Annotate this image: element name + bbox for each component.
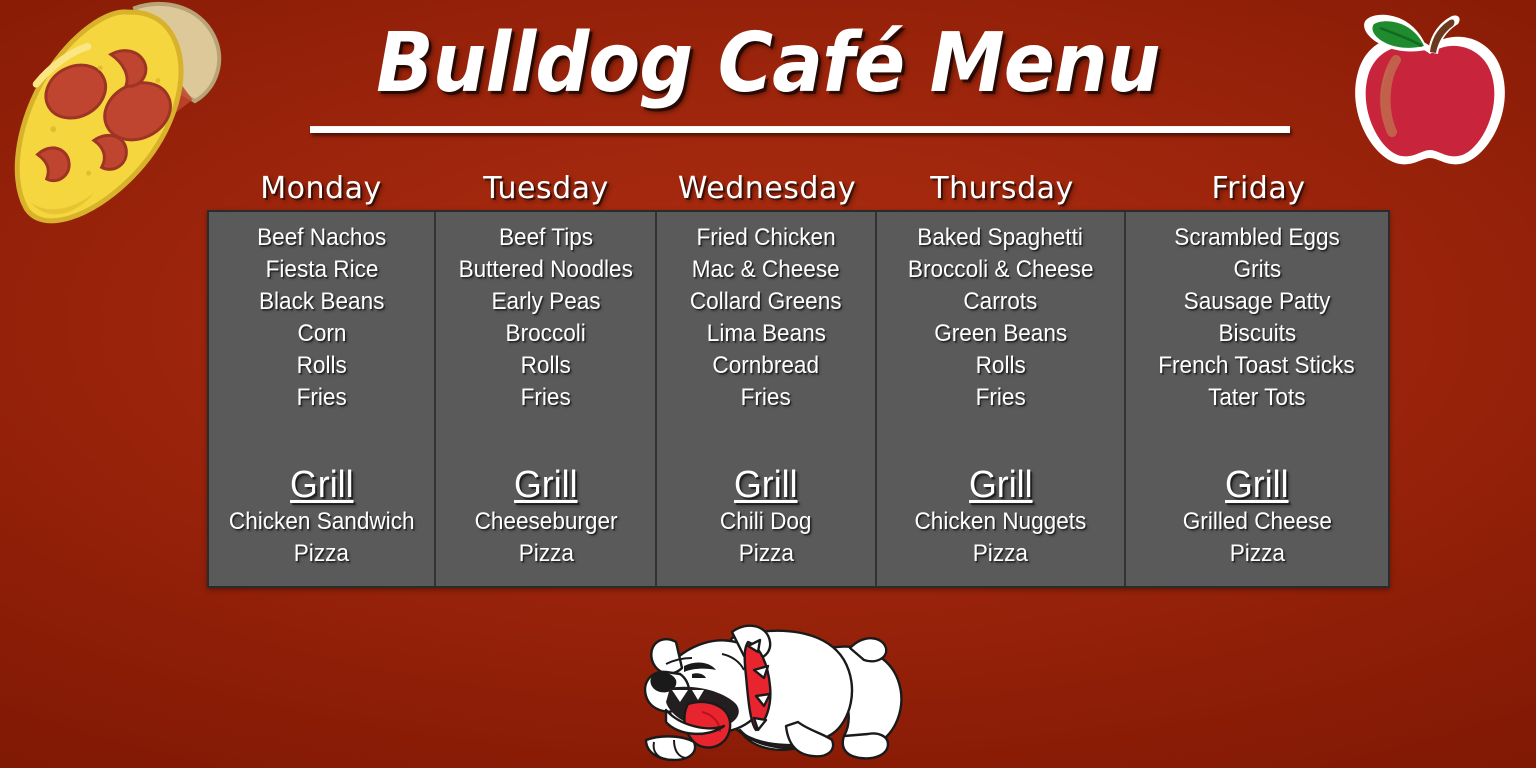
menu-item: Rolls: [521, 350, 571, 382]
grill-item: Chicken Nuggets: [914, 506, 1086, 538]
grill-item-list: Chicken Nuggets Pizza: [909, 506, 1092, 570]
day-header-tuesday: Tuesday: [435, 166, 657, 210]
grill-item-list: Grilled Cheese Pizza: [1178, 506, 1337, 570]
menu-item: Grits: [1233, 254, 1281, 286]
menu-item: Fries: [521, 382, 571, 414]
entree-list: Fried Chicken Mac & Cheese Collard Green…: [685, 222, 846, 414]
grill-item: Grilled Cheese: [1182, 506, 1331, 538]
page-title: Bulldog Café Menu: [0, 22, 1536, 106]
page-title-text: Bulldog Café Menu: [376, 22, 1160, 106]
menu-table: Beef Nachos Fiesta Rice Black Beans Corn…: [207, 210, 1390, 588]
grill-section: Grill Chili Dog Pizza: [657, 464, 874, 570]
menu-item: Fried Chicken: [697, 222, 836, 254]
menu-item: Black Beans: [259, 286, 384, 318]
menu-item: Fries: [741, 382, 791, 414]
menu-item: Buttered Noodles: [459, 254, 633, 286]
menu-item: Carrots: [963, 286, 1037, 318]
entree-list: Beef Tips Buttered Noodles Early Peas Br…: [453, 222, 638, 414]
grill-item: Chicken Sandwich: [229, 506, 415, 538]
menu-item: Baked Spaghetti: [918, 222, 1084, 254]
menu-item: Green Beans: [934, 318, 1067, 350]
grill-heading: Grill: [290, 464, 353, 506]
menu-item: Corn: [297, 318, 346, 350]
grill-section: Grill Grilled Cheese Pizza: [1126, 464, 1388, 570]
menu-item: French Toast Sticks: [1159, 350, 1355, 382]
menu-item: Broccoli & Cheese: [908, 254, 1094, 286]
menu-item: Mac & Cheese: [692, 254, 840, 286]
entree-list: Scrambled Eggs Grits Sausage Patty Biscu…: [1152, 222, 1361, 414]
grill-item: Pizza: [518, 538, 573, 570]
menu-item: Tater Tots: [1208, 382, 1305, 414]
menu-item: Biscuits: [1218, 318, 1296, 350]
menu-item: Sausage Patty: [1184, 286, 1331, 318]
bulldog-mascot-icon: [636, 612, 918, 768]
grill-item: Pizza: [1229, 538, 1284, 570]
menu-item: Beef Nachos: [257, 222, 386, 254]
grill-heading: Grill: [1225, 464, 1288, 506]
menu-item: Early Peas: [491, 286, 600, 318]
grill-section: Grill Cheeseburger Pizza: [436, 464, 655, 570]
menu-item: Rolls: [975, 350, 1025, 382]
day-header-friday: Friday: [1127, 166, 1390, 210]
grill-item: Pizza: [973, 538, 1028, 570]
day-header-monday: Monday: [207, 166, 435, 210]
menu-item: Lima Beans: [707, 318, 826, 350]
menu-item: Fiesta Rice: [265, 254, 378, 286]
menu-column-wednesday: Fried Chicken Mac & Cheese Collard Green…: [657, 212, 876, 586]
grill-section: Grill Chicken Nuggets Pizza: [877, 464, 1124, 570]
grill-heading: Grill: [514, 464, 577, 506]
menu-item: Cornbread: [713, 350, 820, 382]
grill-item: Cheeseburger: [474, 506, 617, 538]
menu-item: Broccoli: [506, 318, 586, 350]
menu-column-monday: Beef Nachos Fiesta Rice Black Beans Corn…: [209, 212, 436, 586]
grill-section: Grill Chicken Sandwich Pizza: [209, 464, 434, 570]
entree-list: Beef Nachos Fiesta Rice Black Beans Corn…: [253, 222, 390, 414]
menu-column-thursday: Baked Spaghetti Broccoli & Cheese Carrot…: [877, 212, 1126, 586]
entree-list: Baked Spaghetti Broccoli & Cheese Carrot…: [902, 222, 1099, 414]
menu-column-tuesday: Beef Tips Buttered Noodles Early Peas Br…: [436, 212, 657, 586]
grill-heading: Grill: [734, 464, 797, 506]
menu-item: Fries: [297, 382, 347, 414]
menu-column-friday: Scrambled Eggs Grits Sausage Patty Biscu…: [1126, 212, 1388, 586]
grill-item: Pizza: [739, 538, 794, 570]
menu-item: Scrambled Eggs: [1174, 222, 1340, 254]
day-header-wednesday: Wednesday: [657, 166, 877, 210]
title-divider: [310, 126, 1290, 133]
day-header-thursday: Thursday: [877, 166, 1127, 210]
grill-item-list: Chicken Sandwich Pizza: [223, 506, 420, 570]
day-header-row: Monday Tuesday Wednesday Thursday Friday: [207, 166, 1390, 210]
grill-item: Chili Dog: [720, 506, 812, 538]
menu-item: Rolls: [297, 350, 347, 382]
grill-item-list: Cheeseburger Pizza: [470, 506, 622, 570]
menu-item: Beef Tips: [499, 222, 593, 254]
grill-item: Pizza: [294, 538, 349, 570]
menu-item: Collard Greens: [690, 286, 842, 318]
menu-item: Fries: [975, 382, 1025, 414]
grill-heading: Grill: [969, 464, 1032, 506]
grill-item-list: Chili Dog Pizza: [717, 506, 814, 570]
